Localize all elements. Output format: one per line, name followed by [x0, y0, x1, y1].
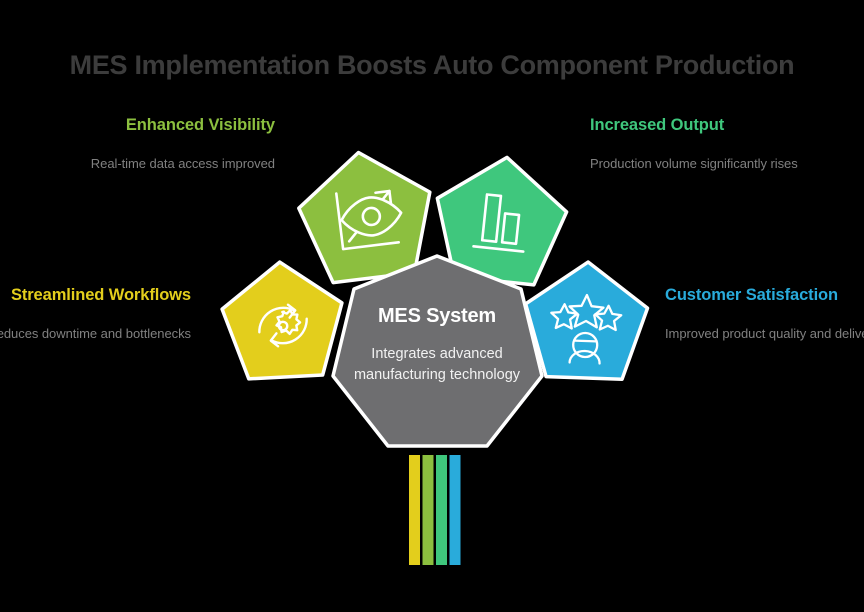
node-customer-satisfaction[interactable] [523, 260, 649, 380]
label-body-customer-satisfaction: Improved product quality and delivery [665, 324, 864, 343]
hub-text-group: MES System Integrates advanced manufactu… [345, 305, 529, 385]
label-increased-output: Increased Output Production volume signi… [590, 113, 830, 174]
label-heading-increased-output: Increased Output [590, 113, 830, 137]
label-body-streamlined-workflows: Reduces downtime and bottlenecks [0, 324, 191, 343]
label-customer-satisfaction: Customer Satisfaction Improved product q… [665, 283, 864, 344]
stem-stripes [409, 455, 461, 565]
label-body-increased-output: Production volume significantly rises [590, 154, 830, 173]
hub-title: MES System [345, 305, 529, 328]
label-streamlined-workflows: Streamlined Workflows Reduces downtime a… [0, 283, 191, 344]
stripe-teal [436, 455, 447, 565]
label-heading-customer-satisfaction: Customer Satisfaction [665, 283, 864, 307]
label-body-enhanced-visibility: Real-time data access improved [35, 154, 275, 173]
pentagon-shape-workflows [220, 259, 346, 380]
stripe-green [423, 455, 434, 565]
node-streamlined-workflows[interactable] [220, 259, 346, 380]
stripe-yellow [409, 455, 420, 565]
stripe-blue [450, 455, 461, 565]
label-heading-enhanced-visibility: Enhanced Visibility [35, 113, 275, 137]
label-heading-streamlined-workflows: Streamlined Workflows [0, 283, 191, 307]
label-enhanced-visibility: Enhanced Visibility Real-time data acces… [35, 113, 275, 174]
infographic-canvas: MES Implementation Boosts Auto Component… [0, 0, 864, 612]
hub-description: Integrates advanced manufacturing techno… [345, 344, 529, 385]
